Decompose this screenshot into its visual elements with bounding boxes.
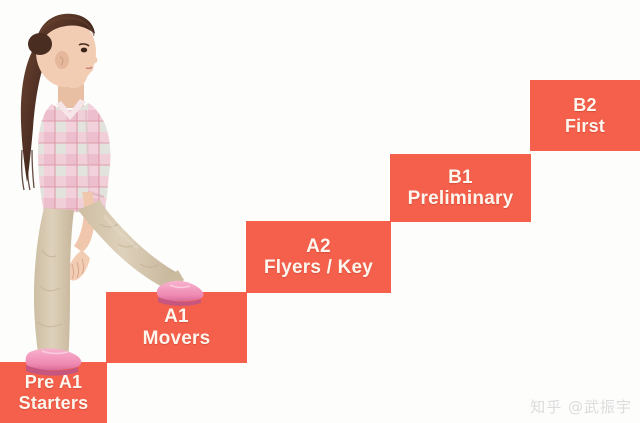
arm-and-hand [67, 192, 95, 281]
step-b1: B1 Preliminary [390, 154, 531, 222]
head [28, 14, 97, 108]
step-a2-exam: Flyers / Key [264, 257, 373, 278]
step-a1-exam: Movers [143, 328, 211, 349]
step-pre-a1-level: Pre A1 [25, 372, 83, 392]
step-a1: A1 Movers [106, 292, 247, 363]
step-pre-a1-exam: Starters [19, 393, 89, 413]
step-a1-level: A1 [164, 306, 189, 327]
staircase-infographic: Pre A1 Starters A1 Movers A2 Flyers / Ke… [0, 0, 640, 423]
step-b2-exam: First [565, 116, 605, 136]
step-b1-level: B1 [448, 167, 473, 188]
watermark: 知乎 @武振宇 [530, 396, 632, 417]
step-pre-a1: Pre A1 Starters [0, 362, 107, 423]
step-a2: A2 Flyers / Key [246, 221, 391, 293]
ponytail-icon [21, 42, 50, 190]
step-b2-level: B2 [573, 95, 596, 115]
step-b2: B2 First [530, 80, 640, 151]
back-leg [34, 208, 74, 364]
plaid-shirt [38, 99, 110, 213]
front-leg [78, 200, 184, 292]
step-b1-exam: Preliminary [408, 188, 514, 209]
step-a2-level: A2 [306, 236, 331, 257]
